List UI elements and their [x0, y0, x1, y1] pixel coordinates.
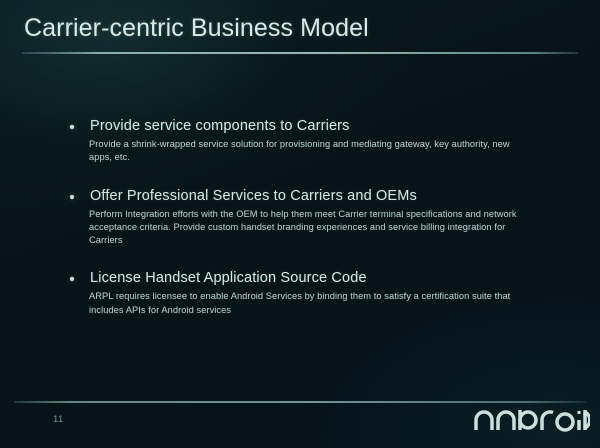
page-number: 11 [53, 414, 64, 425]
bullet-detail: Perform Integration efforts with the OEM… [89, 208, 521, 248]
bullet-dot-icon [70, 125, 74, 129]
bullet-heading: License Handset Application Source Code [90, 269, 536, 287]
bullet-item: Provide service components to Carriers P… [66, 117, 536, 165]
page-title: Carrier-centric Business Model [24, 14, 369, 43]
title-divider [22, 52, 578, 54]
android-logo [474, 407, 590, 433]
slide-body: Provide service components to Carriers P… [66, 117, 536, 317]
bullet-heading: Provide service components to Carriers [90, 117, 536, 135]
bullet-item: License Handset Application Source Code … [66, 269, 536, 317]
bullet-dot-icon [70, 277, 74, 281]
bullet-detail: ARPL requires licensee to enable Android… [89, 290, 521, 316]
bullet-dot-icon [70, 195, 74, 199]
bullet-detail: Provide a shrink-wrapped service solutio… [89, 138, 521, 164]
bullet-heading: Offer Professional Services to Carriers … [90, 187, 536, 205]
bullet-item: Offer Professional Services to Carriers … [66, 187, 536, 248]
footer-divider [14, 401, 586, 403]
presentation-slide: Carrier-centric Business Model Provide s… [0, 0, 600, 448]
